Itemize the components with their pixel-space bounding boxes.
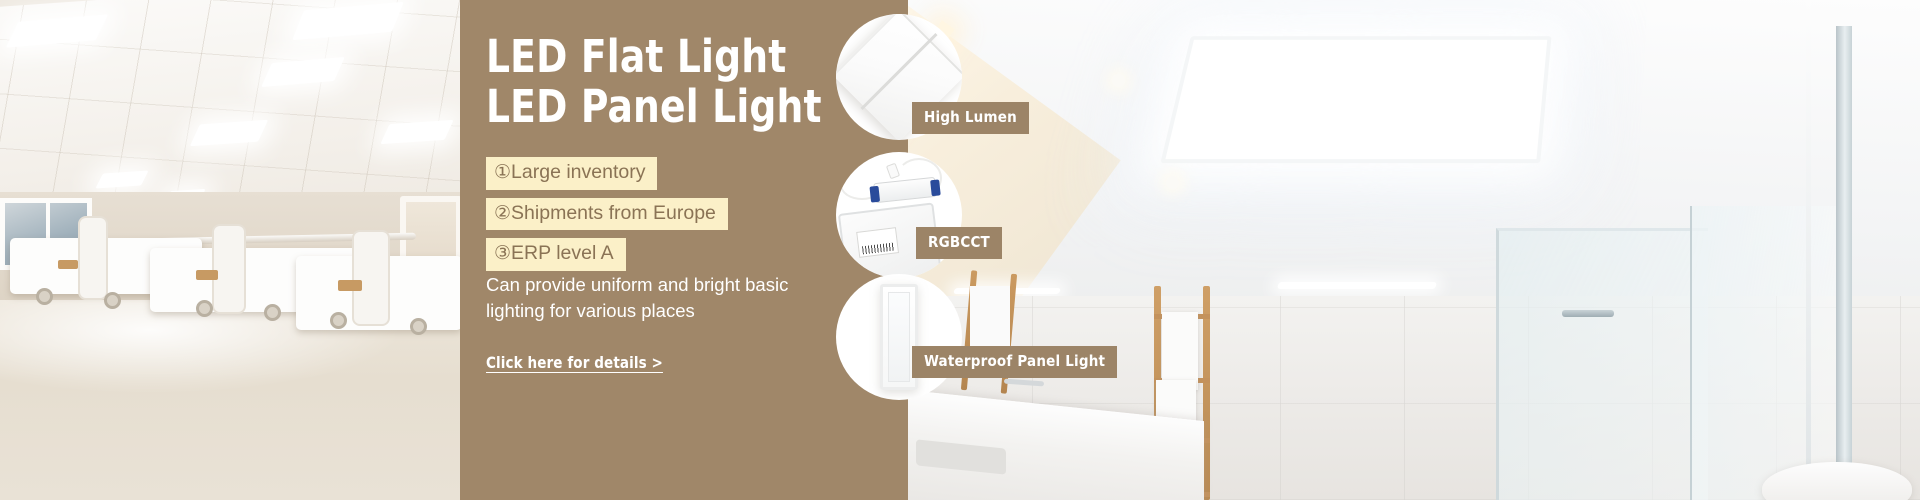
linear-led-strip [1277,282,1437,289]
thumbnail-tag-rgbcct: RGBCCT [916,227,1002,259]
product-thumbnail-waterproof[interactable] [836,274,962,400]
glass-shower-partition-secondary [1690,206,1840,500]
mirror-edge [1806,0,1811,500]
headline-line-2: LED Panel Light [486,82,822,132]
product-spec-label [856,227,899,258]
feature-chip-list: ①Large inventory ②Shipments from Europe … [486,157,728,279]
circled-number-2-icon: ② [494,203,511,224]
feature-chip-1-label: Large inventory [511,161,645,183]
banner-headline: LED Flat Light LED Panel Light [486,32,822,133]
thumbnail-tag-high-lumen: High Lumen [912,102,1029,134]
glass-shower-partition [1496,228,1708,500]
thumbnail-tag-waterproof: Waterproof Panel Light [912,346,1117,378]
bed-caster-wheel [410,318,427,335]
bed-caster-wheel [330,312,347,329]
product-thumbnail-rgbcct[interactable] [836,152,962,278]
ceiling-led-panel-light [1160,36,1551,163]
details-link[interactable]: Click here for details > [486,353,663,372]
bed-headboard [78,216,108,300]
glass-door-frame [1836,26,1852,500]
bed-side-detail [58,260,78,269]
led-panel-light-promo-banner: LED Flat Light LED Panel Light ①Large in… [0,0,1920,500]
bed-caster-wheel [196,300,213,317]
bed-side-detail [338,280,362,291]
bed-side-detail [196,270,218,280]
feature-chip-2: ②Shipments from Europe [486,198,728,231]
feature-chip-3-label: ERP level A [511,242,614,264]
terrazzo-floor [0,300,462,500]
banner-description: Can provide uniform and bright basic lig… [486,272,826,325]
circled-number-1-icon: ① [494,162,511,183]
feature-chip-1: ①Large inventory [486,157,657,190]
headline-line-1: LED Flat Light [486,32,822,82]
bed-headboard [212,224,246,314]
bed-caster-wheel [104,292,121,309]
bed-caster-wheel [264,304,281,321]
feature-chip-3: ③ERP level A [486,238,626,271]
driver-terminal-icon [930,179,941,196]
feature-chip-2-label: Shipments from Europe [511,202,716,224]
circled-number-3-icon: ③ [494,243,511,264]
bed-headboard [352,230,390,326]
hospital-corridor-photo [0,0,462,500]
driver-terminal-icon [869,186,880,203]
bathroom-photo [908,0,1920,500]
bed-caster-wheel [36,288,53,305]
recessed-downlight [1166,176,1179,189]
folded-towel [1162,312,1198,390]
shower-door-handle [1562,310,1614,317]
recessed-downlight [1112,74,1125,87]
